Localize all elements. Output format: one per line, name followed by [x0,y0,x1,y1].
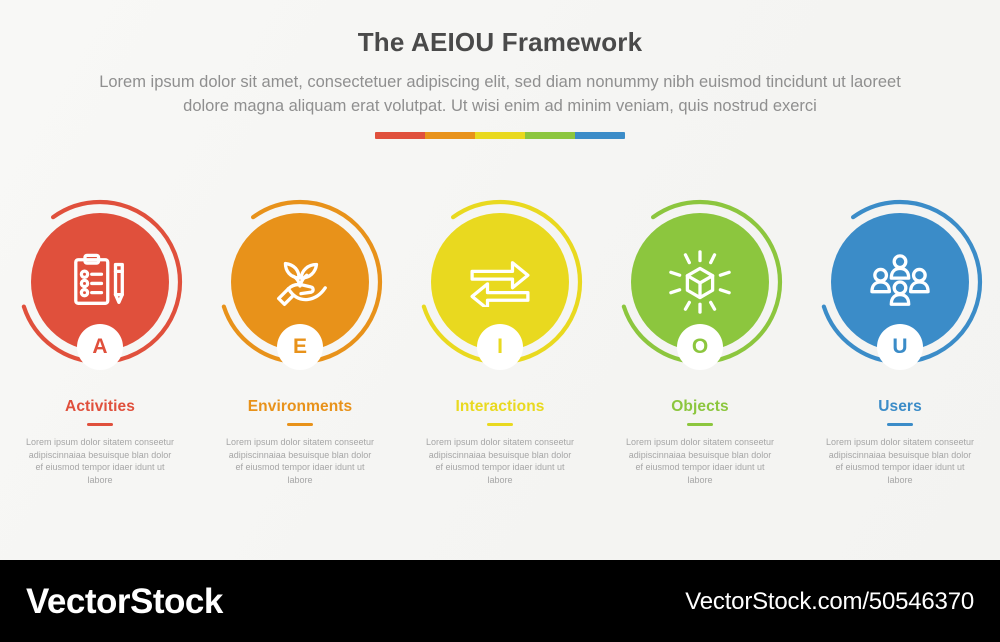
item-title-o: Objects [671,398,729,416]
item-title-rule [87,423,113,426]
item-title-u: Users [878,398,922,416]
letter-badge-e: E [277,324,323,370]
rainbow-segment-4 [525,132,575,139]
item-description-o: Lorem ipsum dolor sitatem conseetur adip… [625,436,775,486]
watermark-bar: VectorStock VectorStock.com/50546370 [0,560,1000,642]
aeiou-item-e[interactable]: E Environments Lorem ipsum dolor sitatem… [200,196,400,496]
circle-graphic-o: O [614,196,786,368]
slide-background: The AEIOU Framework Lorem ipsum dolor si… [0,0,1000,560]
letter-badge-text: U [892,335,907,359]
aeiou-items-row: A Activities Lorem ipsum dolor sitatem c… [0,196,1000,496]
letter-badge-text: I [497,335,503,359]
rainbow-divider [375,132,625,139]
item-description-a: Lorem ipsum dolor sitatem conseetur adip… [25,436,175,486]
item-description-e: Lorem ipsum dolor sitatem conseetur adip… [225,436,375,486]
letter-badge-a: A [77,324,123,370]
letter-badge-text: E [293,335,307,359]
item-title-rule [887,423,913,426]
page-subtitle: Lorem ipsum dolor sit amet, consectetuer… [78,70,922,118]
item-title-a: Activities [65,398,135,416]
letter-badge-text: O [692,335,708,359]
letter-badge-o: O [677,324,723,370]
item-description-u: Lorem ipsum dolor sitatem conseetur adip… [825,436,975,486]
item-title-rule [487,423,513,426]
item-description-i: Lorem ipsum dolor sitatem conseetur adip… [425,436,575,486]
rainbow-segment-5 [575,132,625,139]
rainbow-segment-1 [375,132,425,139]
aeiou-item-i[interactable]: I Interactions Lorem ipsum dolor sitatem… [400,196,600,496]
watermark-url: VectorStock.com/50546370 [685,588,974,616]
circle-graphic-a: A [14,196,186,368]
circle-graphic-u: U [814,196,986,368]
rainbow-segment-3 [475,132,525,139]
watermark-logo: VectorStock [26,582,223,622]
letter-badge-i: I [477,324,523,370]
item-title-rule [687,423,713,426]
letter-badge-text: A [92,335,107,359]
page-title: The AEIOU Framework [0,27,1000,58]
rainbow-segment-2 [425,132,475,139]
item-title-rule [287,423,313,426]
item-title-e: Environments [248,398,353,416]
aeiou-item-a[interactable]: A Activities Lorem ipsum dolor sitatem c… [0,196,200,496]
aeiou-item-o[interactable]: O Objects Lorem ipsum dolor sitatem cons… [600,196,800,496]
item-title-i: Interactions [455,398,544,416]
circle-graphic-i: I [414,196,586,368]
infographic-canvas: The AEIOU Framework Lorem ipsum dolor si… [0,0,1000,642]
circle-graphic-e: E [214,196,386,368]
aeiou-item-u[interactable]: U Users Lorem ipsum dolor sitatem consee… [800,196,1000,496]
letter-badge-u: U [877,324,923,370]
